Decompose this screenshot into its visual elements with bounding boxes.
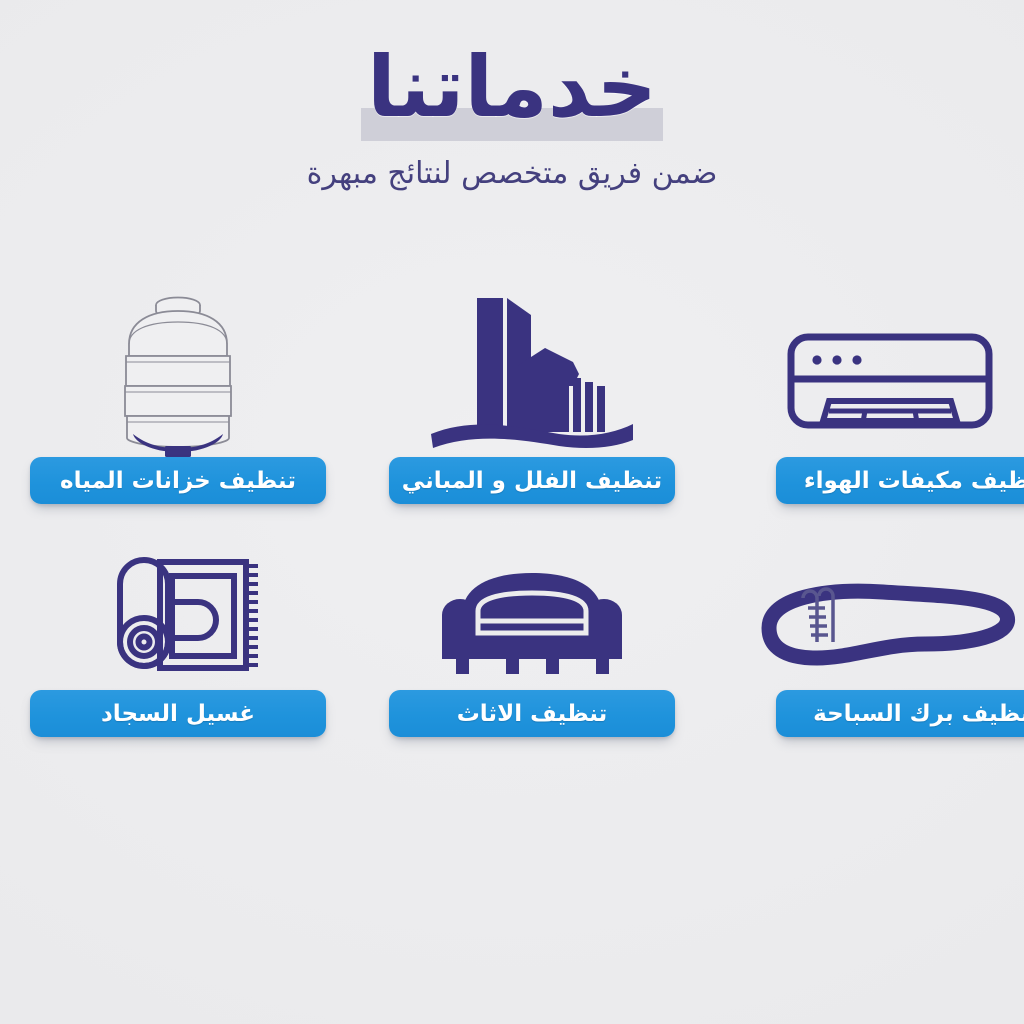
pill-text: تنظيف الفلل و المباني <box>402 468 662 494</box>
pill-text: تنظيف برك السباحة <box>813 701 1024 727</box>
icon-container <box>362 282 702 457</box>
page-title: خدماتنا <box>367 40 657 134</box>
service-label-carpet[interactable]: غسيل السجاد <box>30 690 326 737</box>
service-label-pool[interactable]: تنظيف برك السباحة <box>776 690 1024 737</box>
service-label-buildings[interactable]: تنظيف الفلل و المباني <box>389 457 675 504</box>
service-card-air-conditioner[interactable]: تنظيف مكيفات الهواء <box>720 282 1024 542</box>
service-label-water-tank[interactable]: تنظيف خزانات المياه <box>30 457 326 504</box>
title-wrapper: خدماتنا <box>357 40 667 134</box>
icon-container <box>720 542 1024 690</box>
poster-header: خدماتنا ضمن فريق متخصص لنتائج مبهرة <box>0 40 1024 191</box>
page-subtitle: ضمن فريق متخصص لنتائج مبهرة <box>0 156 1024 191</box>
carpet-motif <box>172 602 216 638</box>
swimming-pool-icon <box>755 572 1024 682</box>
pill-text: تنظيف الاثاث <box>457 701 608 727</box>
icon-container <box>8 282 348 457</box>
pill-text: تنظيف خزانات المياه <box>60 468 296 494</box>
services-row: غسيل السجاد <box>0 542 1024 782</box>
buildings-icon <box>427 282 637 457</box>
water-tank-icon <box>103 282 253 457</box>
carpet-fringe <box>246 560 258 670</box>
service-label-air-conditioner[interactable]: تنظيف مكيفات الهواء <box>776 457 1024 504</box>
sofa-legs <box>456 659 609 674</box>
services-row: تنظيف خزانات المياه <box>0 282 1024 542</box>
air-conditioner-icon <box>785 323 995 453</box>
pool-outline <box>769 591 1008 658</box>
service-card-water-tank[interactable]: تنظيف خزانات المياه <box>8 282 348 542</box>
tank-stand-tab <box>165 446 191 457</box>
indicator-dots <box>812 355 861 364</box>
carpet-roll-icon <box>98 544 258 689</box>
service-card-sofa[interactable]: تنظيف الاثاث <box>362 542 702 802</box>
icon-container <box>720 282 1024 457</box>
services-poster: خدماتنا ضمن فريق متخصص لنتائج مبهرة <box>0 0 1024 1024</box>
service-card-buildings[interactable]: تنظيف الفلل و المباني <box>362 282 702 542</box>
services-grid: تنظيف خزانات المياه <box>0 282 1024 782</box>
pill-text: غسيل السجاد <box>101 701 255 727</box>
service-card-pool[interactable]: تنظيف برك السباحة <box>720 542 1024 802</box>
sofa-icon <box>432 563 632 683</box>
pill-text: تنظيف مكيفات الهواء <box>804 468 1024 494</box>
icon-container <box>8 542 348 690</box>
service-label-sofa[interactable]: تنظيف الاثاث <box>389 690 675 737</box>
icon-container <box>362 542 702 690</box>
service-card-carpet[interactable]: غسيل السجاد <box>8 542 348 802</box>
